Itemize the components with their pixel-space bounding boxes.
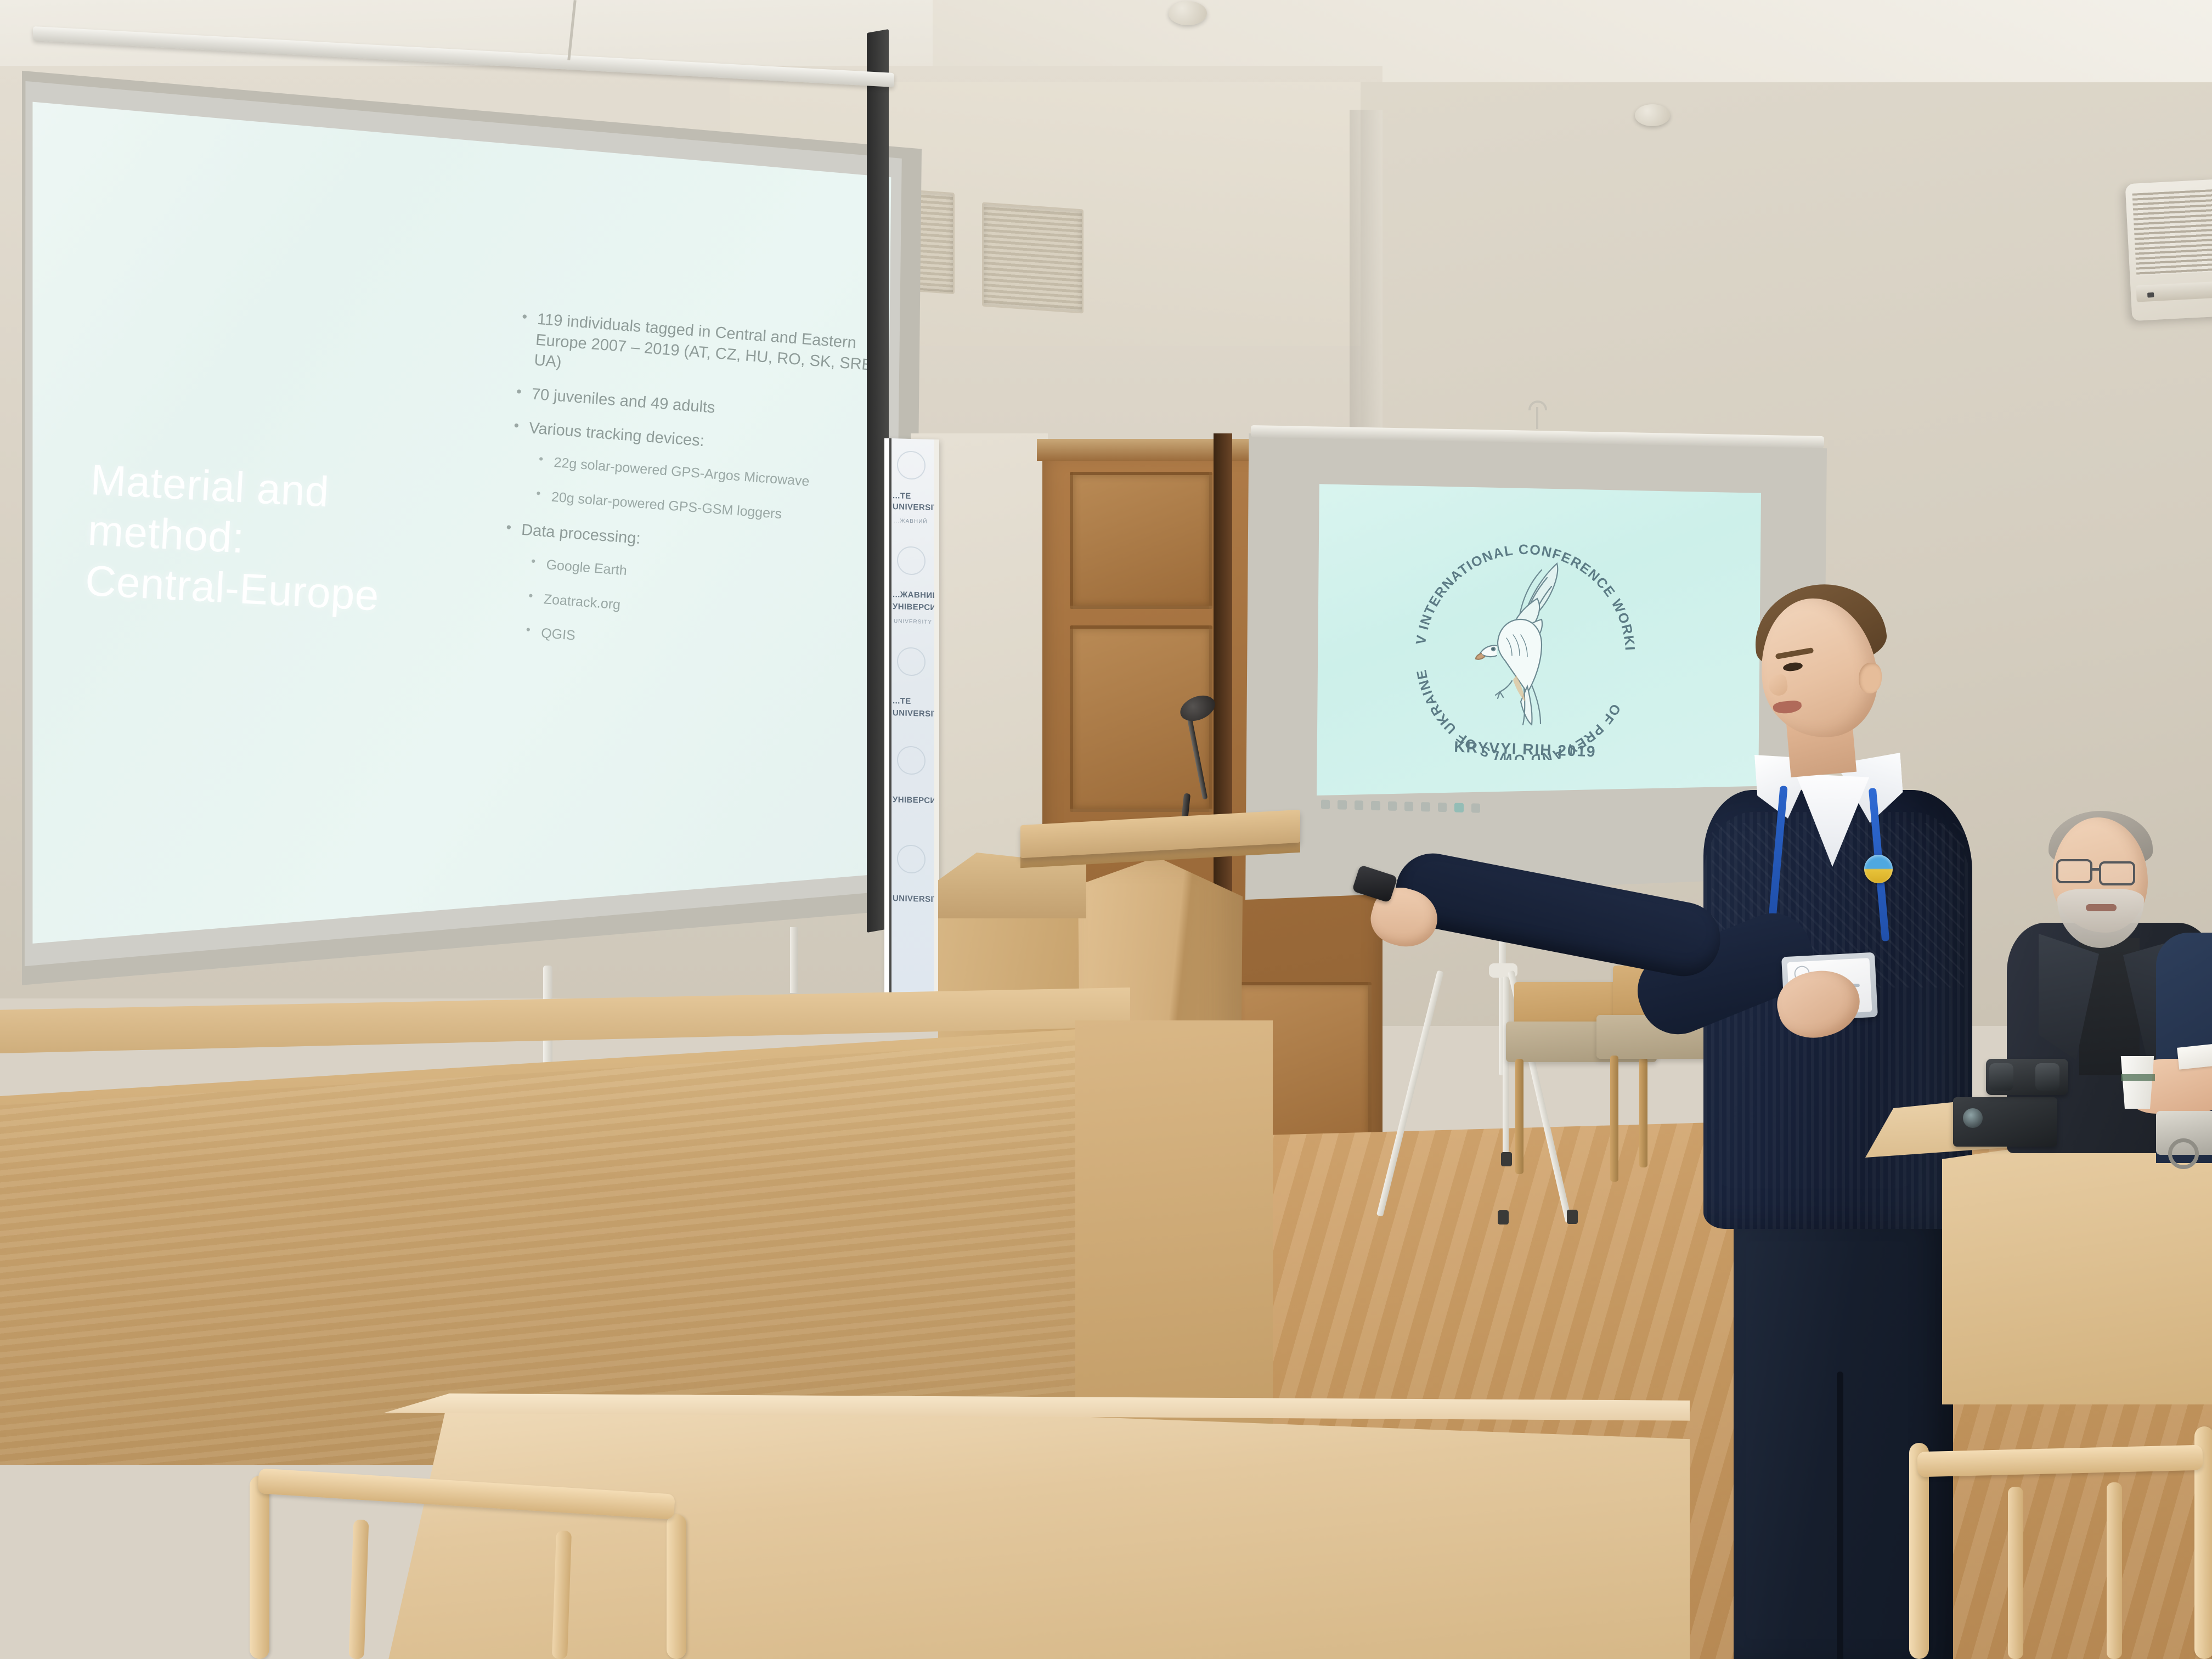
banner-text-en: ...TE [893,491,939,503]
binocular-barrel [1989,1063,2013,1091]
chair-slat [2107,1482,2122,1659]
ac-flap [2136,280,2212,302]
wall-vent-icon [982,202,1084,314]
ceiling-fixture [1169,1,1207,25]
banner-seal-icon [897,450,926,479]
banner-shadow-edge [884,438,891,992]
banner-text-en: UNIVERSITY [893,502,939,514]
ac-led-icon [2147,292,2154,298]
foreground-table [384,1393,1690,1659]
banner-seal-icon [897,647,926,676]
desk-side-panel [1075,1020,1273,1448]
projected-slide: Material and method: Central-Europe 119 … [22,60,911,1004]
banner-text-en: UNIVERSITY [893,894,939,906]
cup-label [2121,1074,2155,1081]
banner-seal-icon [897,746,926,775]
chair-slat [2008,1487,2023,1659]
banner-subtext: ...ЖАВНИЙ [894,518,928,525]
paper-sheets [2177,1042,2212,1069]
binocular-barrel [2035,1063,2059,1091]
presenter-ear [1859,663,1882,693]
chair-post [250,1476,269,1659]
eyeglasses-icon [2099,861,2135,885]
banner-seal-icon [897,546,926,575]
banner-subtext: UNIVERSITY [894,618,932,625]
screen-support-pole [790,927,798,993]
mail-icon[interactable] [1388,801,1397,810]
university-banner: ...TE UNIVERSITY ...ЖАВНИЙ ...ЖАВНИЙ УНІ… [884,438,939,994]
start-icon[interactable] [1321,799,1330,809]
main-projection-screen: Material and method: Central-Europe 119 … [22,60,911,1004]
banner-text-en: UNIVERSITY [893,708,939,720]
gooseneck-microphone [1158,697,1223,834]
slide-title: Material and method: Central-Europe [84,454,454,624]
banner-text-en: ...TE [893,696,939,708]
slide-sub-bullet: QGIS [493,621,856,666]
banner-text-uk: УНІВЕРСИТЕТ [893,795,939,807]
presenter-left-arm [1390,847,1727,983]
explorer-icon[interactable] [1371,800,1380,810]
second-screen-cord [1536,407,1538,429]
mic-neck [1186,713,1207,800]
slide-bullet: 119 individuals tagged in Central and Ea… [513,308,879,397]
taskview-icon[interactable] [1355,800,1363,810]
chair-slat [349,1520,369,1659]
banner-text-uk: ...ЖАВНИЙ [893,590,939,602]
eyeglasses-bridge [2091,868,2101,871]
chair-post [667,1514,686,1659]
slide-bullet-list: 119 individuals tagged in Central and Ea… [492,308,879,682]
trouser-seam [1837,1372,1843,1659]
tripod-ring-icon [2168,1138,2199,1169]
conference-photograph: Material and method: Central-Europe 119 … [0,0,2212,1659]
ac-grille-icon [2132,188,2212,275]
flag-pin-icon [1864,855,1893,883]
eyeglasses-icon [2056,859,2092,883]
door-panel [1070,472,1212,609]
air-conditioner [2125,178,2212,321]
banner-text-uk: УНІВЕРСИТЕТ [893,602,939,614]
search-icon[interactable] [1338,800,1346,809]
ceiling-fixture [1635,104,1670,126]
projector-lens-icon [1963,1108,1983,1128]
attendee-mouth [2086,904,2117,911]
banner-seal-icon [897,844,926,873]
